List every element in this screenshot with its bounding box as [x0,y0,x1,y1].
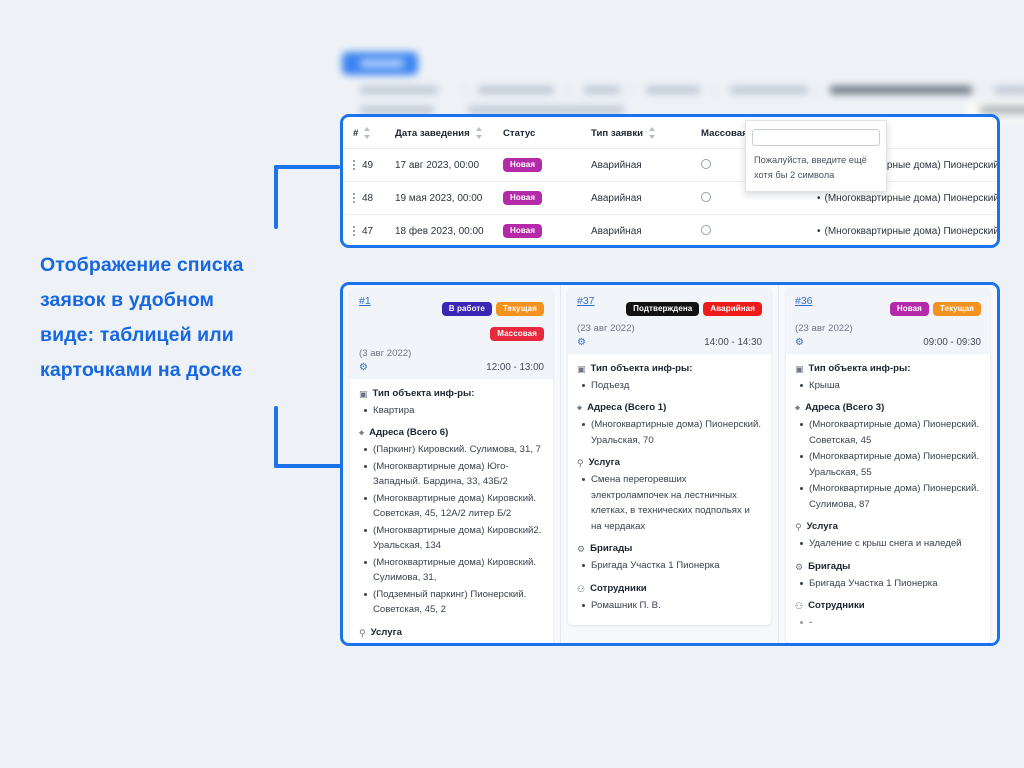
status-badge: Новая [890,302,929,316]
card-badges: В работеТекущая Массовая [438,295,544,345]
card-section-addresses: ⌖ Адреса (Всего 6) (Паркинг) Кировский. … [359,427,544,618]
annotation-caption: Отображение списка заявок в удобном виде… [40,248,340,388]
blurred-menu-chip [478,86,554,94]
list-item: Ромашник П. В. [591,598,762,614]
sort-icon[interactable] [476,127,483,139]
gear-icon[interactable]: ⚙ [577,337,586,348]
list-item: Бригада Участка 1 Пионерка [591,558,762,574]
table-row[interactable]: 49 17 авг 2023, 00:00 Новая Аварийная •(… [343,149,997,182]
list-item: (Подземный паркинг) Пионерский. Советска… [373,587,544,618]
list-item: Подъезд [591,378,762,394]
sort-icon[interactable] [364,127,371,139]
row-number: 49 [362,160,373,171]
sort-icon[interactable] [649,127,656,139]
board-column: #36 НоваяТекущая (23 авг 2022) ⚙ 09:00 -… [779,285,997,643]
caption-line-4: карточками на доске [40,353,340,388]
list-item: (Многоквартирные дома) Пионерский. Ураль… [809,449,981,480]
card-date: (23 авг 2022) [577,323,762,334]
cell-type: Аварийная [591,215,701,248]
blurred-subtoolbar-chip [360,106,434,114]
bracket-left-vertical [274,406,278,468]
table-row[interactable]: 48 19 мая 2023, 00:00 Новая Аварийная •(… [343,182,997,215]
status-badge: Подтверждена [626,302,699,316]
list-item: (Многоквартирные дома) Пионерский. Совет… [809,417,981,448]
card-body: ▣ Тип объекта инф-ры: Подъезд ⌖ Адреса (… [568,354,771,626]
cell-mass [701,215,817,248]
row-menu-icon[interactable] [353,225,356,238]
card-section-service: ⚲ Услуга Удаление с крыш снега и наледей [795,521,981,552]
card-section-brigades: ⚙ Бригады Бригада Участка 1 Пионерка [577,543,762,574]
blurred-subtoolbar-chip [980,106,1024,114]
brigade-icon: ⚙ [577,543,585,555]
map-pin-icon: ⌖ [795,402,800,414]
wrench-icon: ⚲ [359,627,366,639]
list-item: - [809,615,981,631]
section-title: Сотрудники [590,583,647,594]
card-body: ▣ Тип объекта инф-ры: Квартира ⌖ Адреса … [350,379,553,643]
card-header: #37 ПодтвержденаАварийная (23 авг 2022) … [568,288,771,354]
object-type-icon: ▣ [795,363,804,375]
list-item: (Многоквартирные дома) Юго-Западный. Бар… [373,459,544,490]
list-item: Крыша [809,378,981,394]
gear-icon[interactable]: ⚙ [795,337,804,348]
blurred-menu-chip [360,86,438,94]
requests-table-panel: # Дата заведения Статус [340,114,1000,248]
list-item: (Многоквартирные дома) Пионерский. Ураль… [591,417,762,448]
card-date: (23 авг 2022) [795,323,981,334]
card-section-addresses: ⌖ Адреса (Всего 3) (Многоквартирные дома… [795,402,981,512]
row-number: 48 [362,193,373,204]
card-time: 14:00 - 14:30 [704,337,762,348]
caption-line-2: заявок в удобном [40,283,340,318]
card-section-service: ⚲ Услуга [359,627,544,639]
blurred-menu-chip [730,86,808,94]
cell-number: 49 [343,149,395,182]
section-title: Услуга [371,627,402,638]
connector-bracket-table [274,165,344,233]
col-header-status[interactable]: Статус [503,117,591,149]
address-filter-popup: Пожалуйста, введите ещё хотя бы 2 символ… [745,120,887,192]
map-pin-icon: ⌖ [577,402,582,414]
blurred-toolbar [340,48,1000,124]
address-text: (Многоквартирные дома) Пионерский. Совет… [825,193,997,204]
address-filter-hint: Пожалуйста, введите ещё хотя бы 2 символ… [752,153,880,183]
card-id-link[interactable]: #1 [359,295,371,307]
address-filter-input[interactable] [752,129,880,146]
card-section-service: ⚲ Услуга Смена перегоревших электролампо… [577,457,762,534]
bullet-icon: • [817,193,821,204]
caption-line-3: виде: таблицей или [40,318,340,353]
section-title: Услуга [589,457,620,468]
cell-status: Новая [503,149,591,182]
bracket-bottom-horizontal [274,464,344,468]
card-badges: ПодтвержденаАварийная [622,295,762,320]
col-header-number-label: # [353,128,358,139]
list-item: Удаление с крыш снега и наледей [809,536,981,552]
card-section-object-type: ▣ Тип объекта инф-ры: Подъезд [577,363,762,394]
cell-number: 48 [343,182,395,215]
person-icon: ⚇ [577,583,585,595]
section-title: Тип объекта инф-ры: [809,363,911,374]
col-header-number[interactable]: # [343,117,395,149]
card-section-employees: ⚇ Сотрудники - [795,600,981,631]
priority-badge: Аварийная [703,302,762,316]
wrench-icon: ⚲ [795,521,802,533]
object-type-icon: ▣ [577,363,586,375]
blurred-menu-chip [994,86,1024,94]
list-item: Квартира [373,403,544,419]
blurred-menu-chip [646,86,700,94]
table-header-row: # Дата заведения Статус [343,117,997,149]
card-id-link[interactable]: #37 [577,295,595,307]
col-header-date-label: Дата заведения [395,128,470,139]
card-time: 09:00 - 09:30 [923,337,981,348]
cell-date: 19 мая 2023, 00:00 [395,182,503,215]
status-badge: Новая [503,191,542,205]
address-text: (Многоквартирные дома) Пионерский. Совет… [825,226,997,237]
section-title: Бригады [590,543,632,554]
list-item: Смена перегоревших электролампочек на ле… [591,472,762,534]
section-title: Тип объекта инф-ры: [591,363,693,374]
card-section-object-type: ▣ Тип объекта инф-ры: Крыша [795,363,981,394]
gear-icon[interactable]: ⚙ [359,362,368,373]
cell-status: Новая [503,215,591,248]
card-section-addresses: ⌖ Адреса (Всего 1) (Многоквартирные дома… [577,402,762,448]
col-header-date[interactable]: Дата заведения [395,117,503,149]
row-number: 47 [362,226,373,237]
board-column: #37 ПодтвержденаАварийная (23 авг 2022) … [561,285,779,643]
card-section-brigades: ⚙ Бригады Бригада Участка 1 Пионерка [795,561,981,592]
request-card[interactable]: #1 В работеТекущая Массовая (3 авг 2022)… [350,288,553,643]
status-badge: Новая [503,158,542,172]
card-time: 12:00 - 13:00 [486,362,544,373]
connector-bracket-cards [274,406,344,472]
card-header: #1 В работеТекущая Массовая (3 авг 2022)… [350,288,553,379]
col-header-type-label: Тип заявки [591,128,643,139]
list-item: Бригада Участка 1 Пионерка [809,576,981,592]
map-pin-icon: ⌖ [359,427,364,439]
board-column: #1 В работеТекущая Массовая (3 авг 2022)… [343,285,561,643]
list-item: (Многоквартирные дома) Пионерский. Сулим… [809,481,981,512]
list-item: (Многоквартирные дома) Кировский. Советс… [373,491,544,522]
cell-type: Аварийная [591,149,701,182]
status-badge: В работе [442,302,492,316]
card-section-object-type: ▣ Тип объекта инф-ры: Квартира [359,388,544,419]
mass-radio-icon[interactable] [701,225,711,235]
card-badges: НоваяТекущая [886,295,981,320]
card-section-employees: ⚇ Сотрудники Ромашник П. В. [577,583,762,614]
wrench-icon: ⚲ [577,457,584,469]
bracket-left-vertical [274,165,278,229]
priority-badge: Текущая [933,302,981,316]
status-badge: Новая [503,224,542,238]
card-header: #36 НоваяТекущая (23 авг 2022) ⚙ 09:00 -… [786,288,990,354]
col-header-type[interactable]: Тип заявки [591,117,701,149]
cell-type: Аварийная [591,182,701,215]
blurred-menu-chip-active [830,86,972,94]
cell-address: •(Многоквартирные дома) Пионерский. Сове… [817,215,997,248]
blurred-menu-chip [584,86,620,94]
list-item: (Многоквартирные дома) Кировский. Сулимо… [373,555,544,586]
section-title: Тип объекта инф-ры: [373,388,475,399]
mass-badge: Массовая [490,327,544,341]
section-title: Адреса (Всего 1) [587,402,666,413]
object-type-icon: ▣ [359,388,368,400]
priority-badge: Текущая [496,302,544,316]
blurred-menu-row [346,86,996,96]
section-title: Сотрудники [808,600,865,611]
col-header-status-label: Статус [503,128,535,139]
list-item: (Паркинг) Кировский. Сулимова, 31, 7 [373,442,544,458]
brigade-icon: ⚙ [795,561,803,573]
list-item: (Многоквартирные дома) Кировский2. Ураль… [373,523,544,554]
request-card[interactable]: #36 НоваяТекущая (23 авг 2022) ⚙ 09:00 -… [786,288,990,643]
requests-table: # Дата заведения Статус [343,117,997,247]
row-menu-icon[interactable] [353,192,356,205]
mass-radio-icon[interactable] [701,192,711,202]
cell-date: 17 авг 2023, 00:00 [395,149,503,182]
card-id-link[interactable]: #36 [795,295,813,307]
row-menu-icon[interactable] [353,159,356,172]
mass-radio-icon[interactable] [701,159,711,169]
section-title: Бригады [808,561,850,572]
request-card[interactable]: #37 ПодтвержденаАварийная (23 авг 2022) … [568,288,771,625]
table-body: 49 17 авг 2023, 00:00 Новая Аварийная •(… [343,149,997,248]
requests-board-panel: #1 В работеТекущая Массовая (3 авг 2022)… [340,282,1000,646]
caption-line-1: Отображение списка [40,248,340,283]
cell-date: 18 фев 2023, 00:00 [395,215,503,248]
blurred-subtoolbar-chip [468,106,624,114]
section-title: Адреса (Всего 6) [369,427,448,438]
blurred-primary-button [342,52,418,75]
cell-number: 47 [343,215,395,248]
table-row[interactable]: 47 18 фев 2023, 00:00 Новая Аварийная •(… [343,215,997,248]
bracket-top-horizontal [274,165,340,169]
card-date: (3 авг 2022) [359,348,544,359]
card-body: ▣ Тип объекта инф-ры: Крыша ⌖ Адреса (Вс… [786,354,990,643]
section-title: Адреса (Всего 3) [805,402,884,413]
cell-status: Новая [503,182,591,215]
section-title: Услуга [807,521,838,532]
person-icon: ⚇ [795,600,803,612]
bullet-icon: • [817,226,821,237]
